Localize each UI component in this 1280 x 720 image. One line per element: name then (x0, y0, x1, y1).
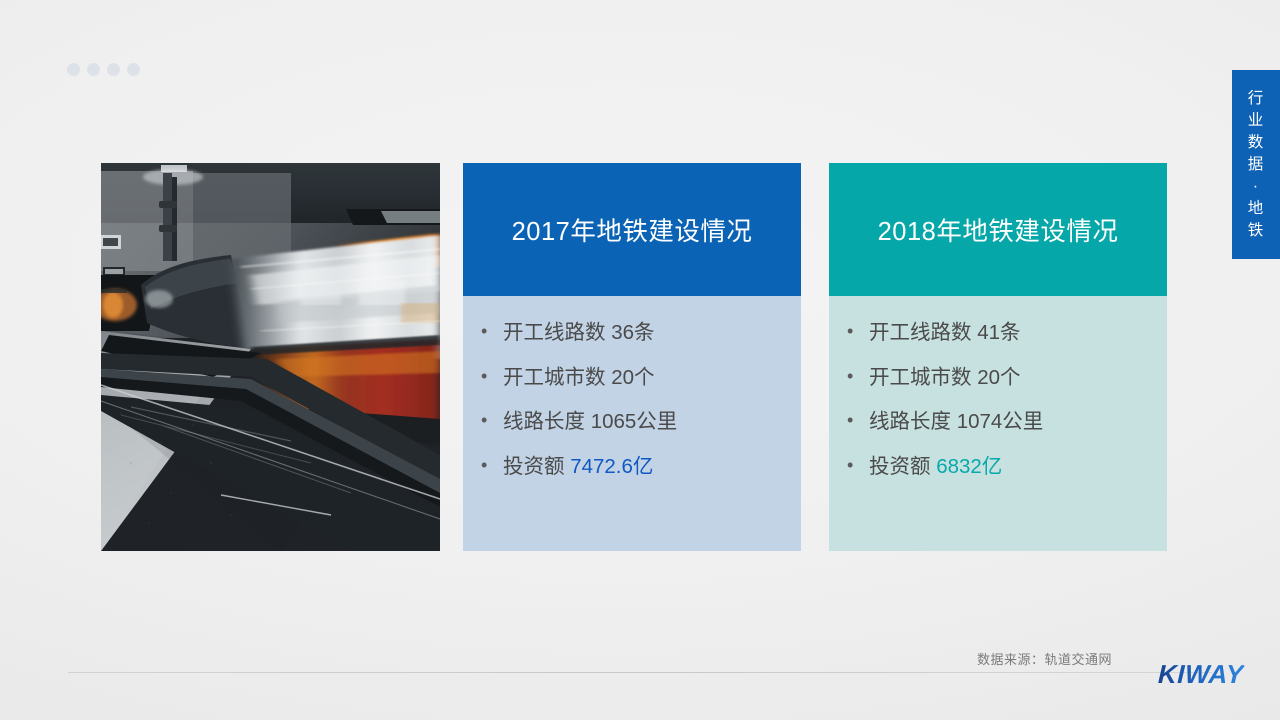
card-2017-bullet-list: • 开工线路数 36条 • 开工城市数 20个 • 线路长度 1065公里 • … (463, 296, 801, 551)
list-item-label: 开工线路数 41条 (869, 320, 1021, 346)
bullet-dot-icon: • (847, 456, 869, 474)
list-item-label: 开工城市数 20个 (869, 365, 1021, 391)
investment-value-2018: 6832亿 (936, 455, 1002, 478)
list-item-prefix: 投资额 (869, 455, 936, 478)
card-2017-title: 2017年地铁建设情况 (463, 163, 801, 296)
bullet-dot-icon: • (847, 411, 869, 429)
list-item-highlight: • 投资额 6832亿 (847, 454, 1167, 480)
kiway-logo: KIWAY (1158, 659, 1245, 690)
bullet-dot-icon: • (481, 322, 503, 340)
decor-dot (107, 63, 120, 76)
decor-dot (127, 63, 140, 76)
bullet-dot-icon: • (481, 367, 503, 385)
data-source-note: 数据来源：轨道交通网 (977, 649, 1112, 668)
card-2017: 2017年地铁建设情况 • 开工线路数 36条 • 开工城市数 20个 • 线路… (463, 163, 801, 551)
list-item-label: 投资额 7472.6亿 (503, 454, 653, 480)
list-item-label: 开工线路数 36条 (503, 320, 655, 346)
decor-dot (87, 63, 100, 76)
card-2018-title: 2018年地铁建设情况 (829, 163, 1167, 296)
list-item-label: 线路长度 1074公里 (869, 409, 1043, 435)
bullet-dot-icon: • (847, 322, 869, 340)
list-item-label: 线路长度 1065公里 (503, 409, 677, 435)
list-item-label: 开工城市数 20个 (503, 365, 655, 391)
card-2018-bullet-list: • 开工线路数 41条 • 开工城市数 20个 • 线路长度 1074公里 • … (829, 296, 1167, 551)
bullet-dot-icon: • (481, 456, 503, 474)
list-item: • 开工线路数 36条 (481, 320, 801, 346)
section-tab-label: 行业数据·地铁 (1247, 88, 1265, 242)
list-item: • 开工线路数 41条 (847, 320, 1167, 346)
list-item: • 开工城市数 20个 (481, 365, 801, 391)
list-item-highlight: • 投资额 7472.6亿 (481, 454, 801, 480)
list-item-prefix: 投资额 (503, 455, 570, 478)
bullet-dot-icon: • (847, 367, 869, 385)
footer-divider (68, 672, 1212, 673)
decorative-dots (67, 63, 140, 76)
subway-train-illustration (101, 163, 440, 551)
slide-canvas: 2017年地铁建设情况 • 开工线路数 36条 • 开工城市数 20个 • 线路… (0, 0, 1280, 720)
bullet-dot-icon: • (481, 411, 503, 429)
subway-train-photo (101, 163, 440, 551)
list-item: • 开工城市数 20个 (847, 365, 1167, 391)
list-item: • 线路长度 1065公里 (481, 409, 801, 435)
list-item-label: 投资额 6832亿 (869, 454, 1002, 480)
list-item: • 线路长度 1074公里 (847, 409, 1167, 435)
investment-value-2017: 7472.6亿 (570, 455, 653, 478)
section-tab-industry-data[interactable]: 行业数据·地铁 (1232, 70, 1280, 259)
decor-dot (67, 63, 80, 76)
card-2018: 2018年地铁建设情况 • 开工线路数 41条 • 开工城市数 20个 • 线路… (829, 163, 1167, 551)
